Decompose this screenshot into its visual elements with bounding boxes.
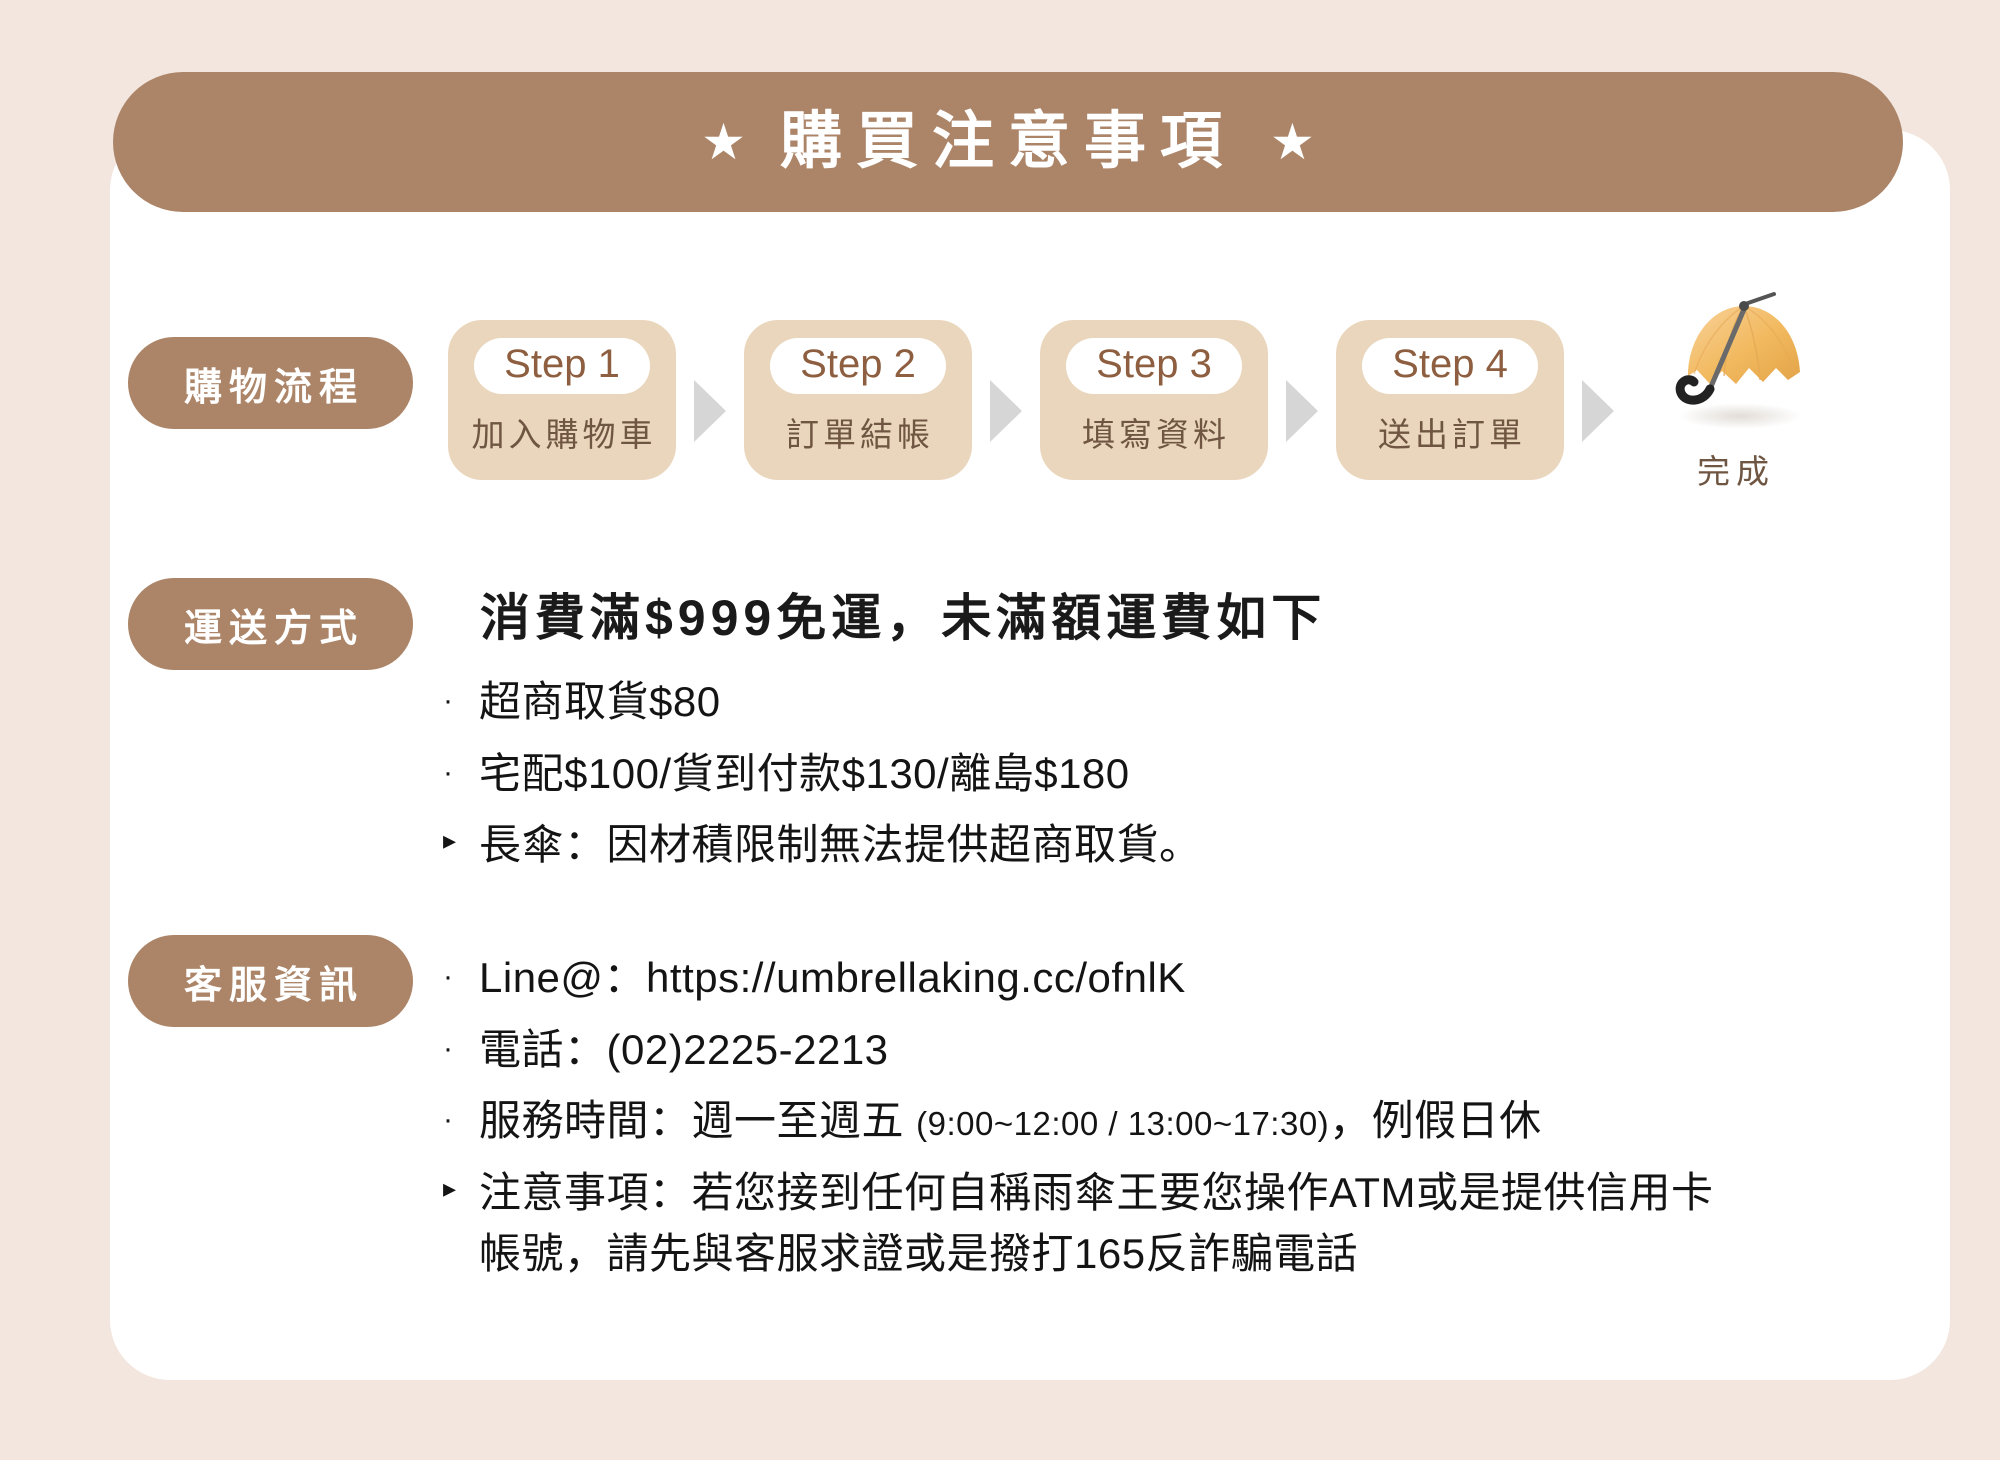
line-contact-text[interactable]: Line@：https://umbrellaking.cc/ofnlK	[479, 948, 1186, 1008]
shopping-flow-steps: Step 1 加入購物車 Step 2 訂單結帳 Step 3 填寫資料 Ste…	[448, 320, 1828, 493]
bullet-dot-icon: ·	[443, 744, 479, 803]
umbrella-icon	[1648, 276, 1818, 441]
step-number-3: Step 3	[1066, 338, 1242, 394]
list-item: ▸ 長傘：因材積限制無法提供超商取貨。	[443, 815, 1202, 875]
service-hours-prefix: 服務時間：週一至週五	[479, 1097, 916, 1144]
bullet-dot-icon: ·	[443, 1091, 479, 1150]
bullet-triangle-icon: ▸	[443, 1163, 479, 1214]
section-badge-shopping-flow: 購物流程	[128, 337, 413, 429]
step-card-3: Step 3 填寫資料	[1040, 320, 1268, 480]
shipping-heading: 消費滿$999免運，未滿額運費如下	[480, 578, 1326, 650]
arrow-right-icon-3	[1284, 378, 1320, 444]
service-hours-text: 服務時間：週一至週五 (9:00~12:00 / 13:00~17:30)，例假…	[479, 1091, 1542, 1151]
step-number-4: Step 4	[1362, 338, 1538, 394]
customer-service-list: · Line@：https://umbrellaking.cc/ofnlK · …	[443, 948, 1733, 1297]
page-title: 購買注意事項	[780, 111, 1236, 173]
step-card-1: Step 1 加入購物車	[448, 320, 676, 480]
step-number-2: Step 2	[770, 338, 946, 394]
promo-notice-graphic: ★ 購買注意事項 ★ 購物流程 運送方式 客服資訊 Step 1 加入購物車 S…	[0, 0, 2000, 1460]
list-item-text: 長傘：因材積限制無法提供超商取貨。	[479, 815, 1202, 875]
bullet-dot-icon: ·	[443, 1020, 479, 1079]
step-label-1: 加入購物車	[468, 408, 657, 456]
bullet-triangle-icon: ▸	[443, 815, 479, 866]
flow-finish-label: 完成	[1691, 445, 1775, 493]
bullet-dot-icon: ·	[443, 948, 479, 1007]
bullet-dot-icon: ·	[443, 672, 479, 731]
fraud-warning-text: 注意事項：若您接到任何自稱雨傘王要您操作ATM或是提供信用卡帳號，請先與客服求證…	[479, 1163, 1733, 1285]
service-hours-detail: (9:00~12:00 / 13:00~17:30)	[916, 1105, 1329, 1142]
step-card-4: Step 4 送出訂單	[1336, 320, 1564, 480]
list-item: · 服務時間：週一至週五 (9:00~12:00 / 13:00~17:30)，…	[443, 1091, 1733, 1151]
list-item-text: 超商取貨$80	[479, 672, 721, 732]
step-number-1: Step 1	[474, 338, 650, 394]
step-card-2: Step 2 訂單結帳	[744, 320, 972, 480]
step-label-3: 填寫資料	[1078, 408, 1230, 456]
header-banner: ★ 購買注意事項 ★	[113, 72, 1903, 212]
list-item: · 電話：(02)2225-2213	[443, 1020, 1733, 1080]
list-item: · 超商取貨$80	[443, 672, 1202, 732]
section-badge-customer-service: 客服資訊	[128, 935, 413, 1027]
flow-finish: 完成	[1638, 276, 1828, 493]
service-hours-suffix: ，例假日休	[1329, 1097, 1542, 1144]
arrow-right-icon-1	[692, 378, 728, 444]
star-left-icon: ★	[701, 117, 746, 167]
arrow-right-icon-2	[988, 378, 1024, 444]
phone-text[interactable]: 電話：(02)2225-2213	[479, 1020, 889, 1080]
section-badge-shipping: 運送方式	[128, 578, 413, 670]
list-item: ▸ 注意事項：若您接到任何自稱雨傘王要您操作ATM或是提供信用卡帳號，請先與客服…	[443, 1163, 1733, 1285]
list-item: · 宅配$100/貨到付款$130/離島$180	[443, 744, 1202, 804]
star-right-icon: ★	[1270, 117, 1315, 167]
shipping-list: · 超商取貨$80 · 宅配$100/貨到付款$130/離島$180 ▸ 長傘：…	[443, 672, 1202, 887]
step-label-4: 送出訂單	[1374, 408, 1526, 456]
list-item: · Line@：https://umbrellaking.cc/ofnlK	[443, 948, 1733, 1008]
step-label-2: 訂單結帳	[782, 408, 934, 456]
arrow-right-icon-4	[1580, 378, 1616, 444]
list-item-text: 宅配$100/貨到付款$130/離島$180	[479, 744, 1130, 804]
